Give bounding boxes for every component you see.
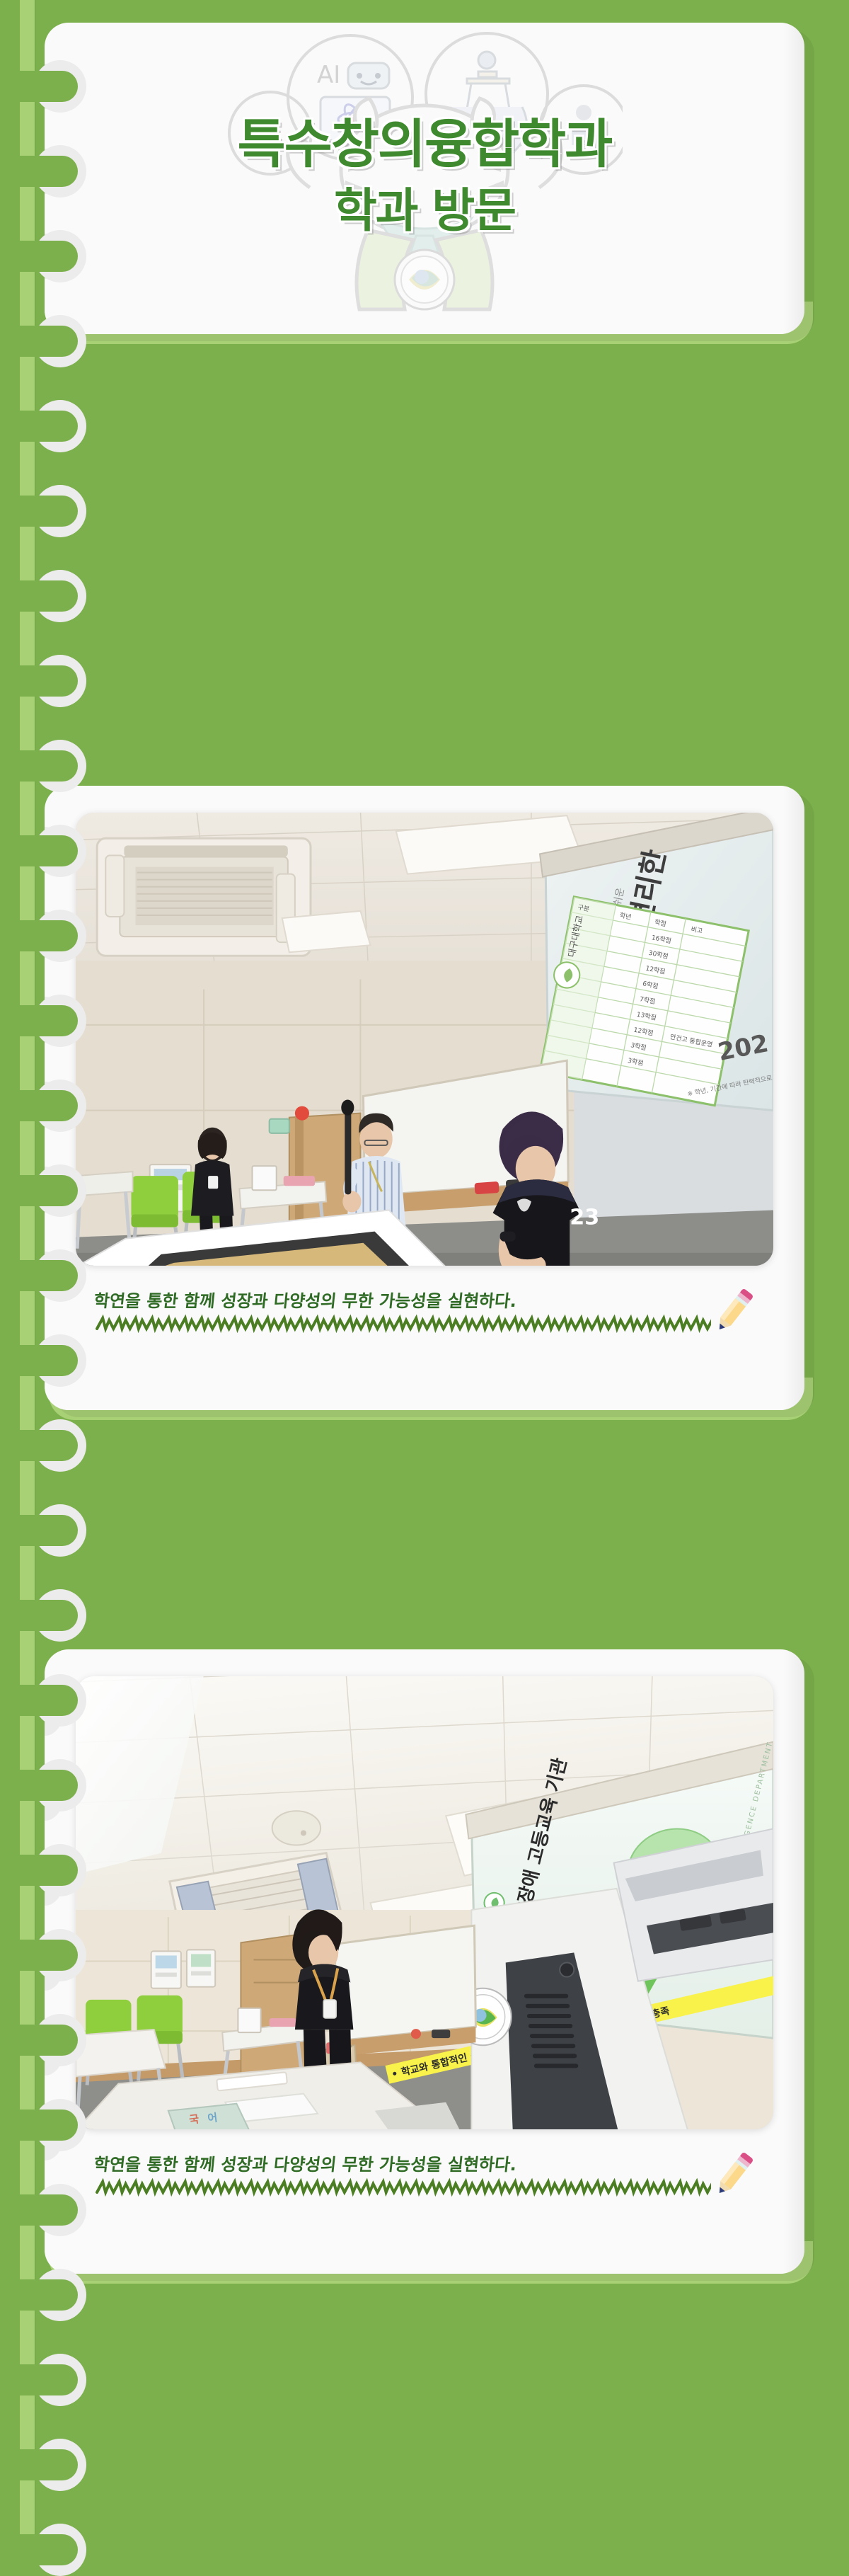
- binder-hole: [34, 2439, 86, 2491]
- binder-ring: [0, 411, 78, 442]
- binder-ring: [0, 496, 78, 527]
- pencil-icon: [707, 2146, 762, 2202]
- binder-hole: [34, 485, 86, 537]
- binder-ring: [0, 2279, 78, 2311]
- binder-ring: [0, 1515, 78, 1546]
- svg-text:23: 23: [570, 1206, 599, 1230]
- binder-spine: [20, 0, 35, 2548]
- university-seal: [395, 250, 454, 309]
- squiggle-underline-icon: [94, 1313, 711, 1334]
- event-photo-1: 다양하고 편리한 - DU로 가는 빠르고 쉬운: [76, 813, 773, 1266]
- photo-card-kpace-slide: 대구대학교의 발달장애 고등교육 기관 SPECIAL CREATIVE CON…: [45, 1649, 804, 2274]
- binder-hole: [34, 655, 86, 707]
- binder-hole: [34, 1419, 86, 1472]
- card-caption: 학연을 통한 함께 성장과 다양성의 무한 가능성을 실현하다.: [45, 2129, 804, 2214]
- hero-title-card: AI: [45, 23, 804, 334]
- svg-text:어: 어: [207, 2111, 218, 2125]
- binder-hole: [34, 1504, 86, 1557]
- pencil-icon: [707, 1283, 762, 1338]
- binder-ring: [0, 2364, 78, 2395]
- binder-hole: [34, 2354, 86, 2406]
- page-title-line-1: 특수창의융합학과: [238, 115, 612, 176]
- binder-ring: [0, 665, 78, 697]
- event-photo-2: 대구대학교의 발달장애 고등교육 기관 SPECIAL CREATIVE CON…: [76, 1676, 773, 2129]
- binder-hole: [34, 570, 86, 622]
- binder-ring: [0, 1430, 78, 1461]
- svg-text:AI: AI: [317, 61, 340, 89]
- page-title-line-2: 학과 방문: [238, 184, 612, 239]
- binder-hole: [34, 400, 86, 452]
- squiggle-underline-icon: [94, 2177, 711, 2198]
- binder-ring: [0, 750, 78, 782]
- binder-ring: [0, 2534, 78, 2565]
- svg-text:국: 국: [188, 2112, 200, 2126]
- binder-hole: [34, 1589, 86, 1642]
- caption-text: 학연을 통한 함께 성장과 다양성의 무한 가능성을 실현하다.: [93, 2151, 712, 2175]
- binder-hole: [34, 740, 86, 792]
- photo-card-classroom-presentation: 다양하고 편리한 - DU로 가는 빠르고 쉬운: [45, 786, 804, 1410]
- card-caption: 학연을 통한 함께 성장과 다양성의 무한 가능성을 실현하다.: [45, 1266, 804, 1351]
- binder-ring: [0, 2449, 78, 2480]
- binder-ring: [0, 580, 78, 612]
- binder-hole: [34, 2524, 86, 2576]
- caption-text: 학연을 통한 함께 성장과 다양성의 무한 가능성을 실현하다.: [93, 1287, 712, 1312]
- binder-ring: [0, 1600, 78, 1631]
